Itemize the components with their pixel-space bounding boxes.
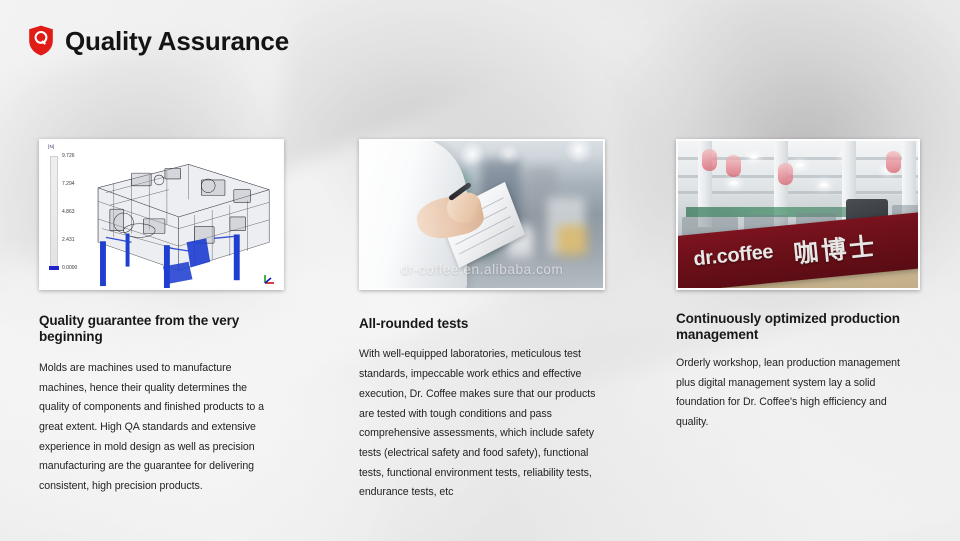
cad-legend-tick-4: 0.0000 (62, 265, 77, 271)
cad-legend-bar-min (49, 266, 59, 270)
column-quality-guarantee: [N] 9.726 7.294 4.863 2.431 0.0000 Quali… (39, 139, 284, 497)
content-columns: [N] 9.726 7.294 4.863 2.431 0.0000 Quali… (0, 0, 960, 541)
cad-simulation-image: [N] 9.726 7.294 4.863 2.431 0.0000 (39, 139, 284, 290)
cad-legend-unit: [N] (48, 144, 54, 149)
decor-lantern (726, 155, 741, 177)
decor-lantern (702, 149, 717, 171)
slide-root: Quality Assurance (0, 0, 960, 541)
column-body: Molds are machines used to manufacture m… (39, 359, 275, 497)
column-heading: Continuously optimized production manage… (676, 311, 908, 344)
factory-showroom-image: dr.coffee 咖博士 (676, 139, 920, 290)
shield-q-icon (28, 25, 54, 56)
cad-legend-tick-3: 2.431 (62, 237, 75, 243)
image-watermark: dr-coffee.en.alibaba.com (361, 262, 603, 277)
cad-legend-bar (50, 156, 58, 268)
cad-legend-tick-1: 7.294 (62, 181, 75, 187)
cad-axis-triad-icon (262, 272, 278, 285)
banner-brand-text: dr.coffee (693, 241, 775, 272)
lab-technician-image: dr-coffee.en.alibaba.com (359, 139, 605, 290)
column-production-management: dr.coffee 咖博士 Continuously optimized pro… (676, 139, 920, 433)
slide-header: Quality Assurance (28, 25, 289, 56)
cad-legend-tick-0: 9.726 (62, 153, 75, 159)
column-all-rounded-tests: dr-coffee.en.alibaba.com All-rounded tes… (359, 139, 605, 503)
column-heading: All-rounded tests (359, 316, 605, 332)
column-body: With well-equipped laboratories, meticul… (359, 345, 603, 503)
decor-lantern (778, 163, 793, 185)
decor-lantern (886, 151, 901, 173)
column-body: Orderly workshop, lean production manage… (676, 354, 920, 433)
column-heading: Quality guarantee from the very beginnin… (39, 313, 284, 346)
cad-legend: [N] 9.726 7.294 4.863 2.431 0.0000 (47, 154, 95, 279)
cad-legend-tick-2: 4.863 (62, 209, 75, 215)
page-title: Quality Assurance (65, 28, 289, 54)
banner-brand-text-cn: 咖博士 (792, 227, 879, 271)
